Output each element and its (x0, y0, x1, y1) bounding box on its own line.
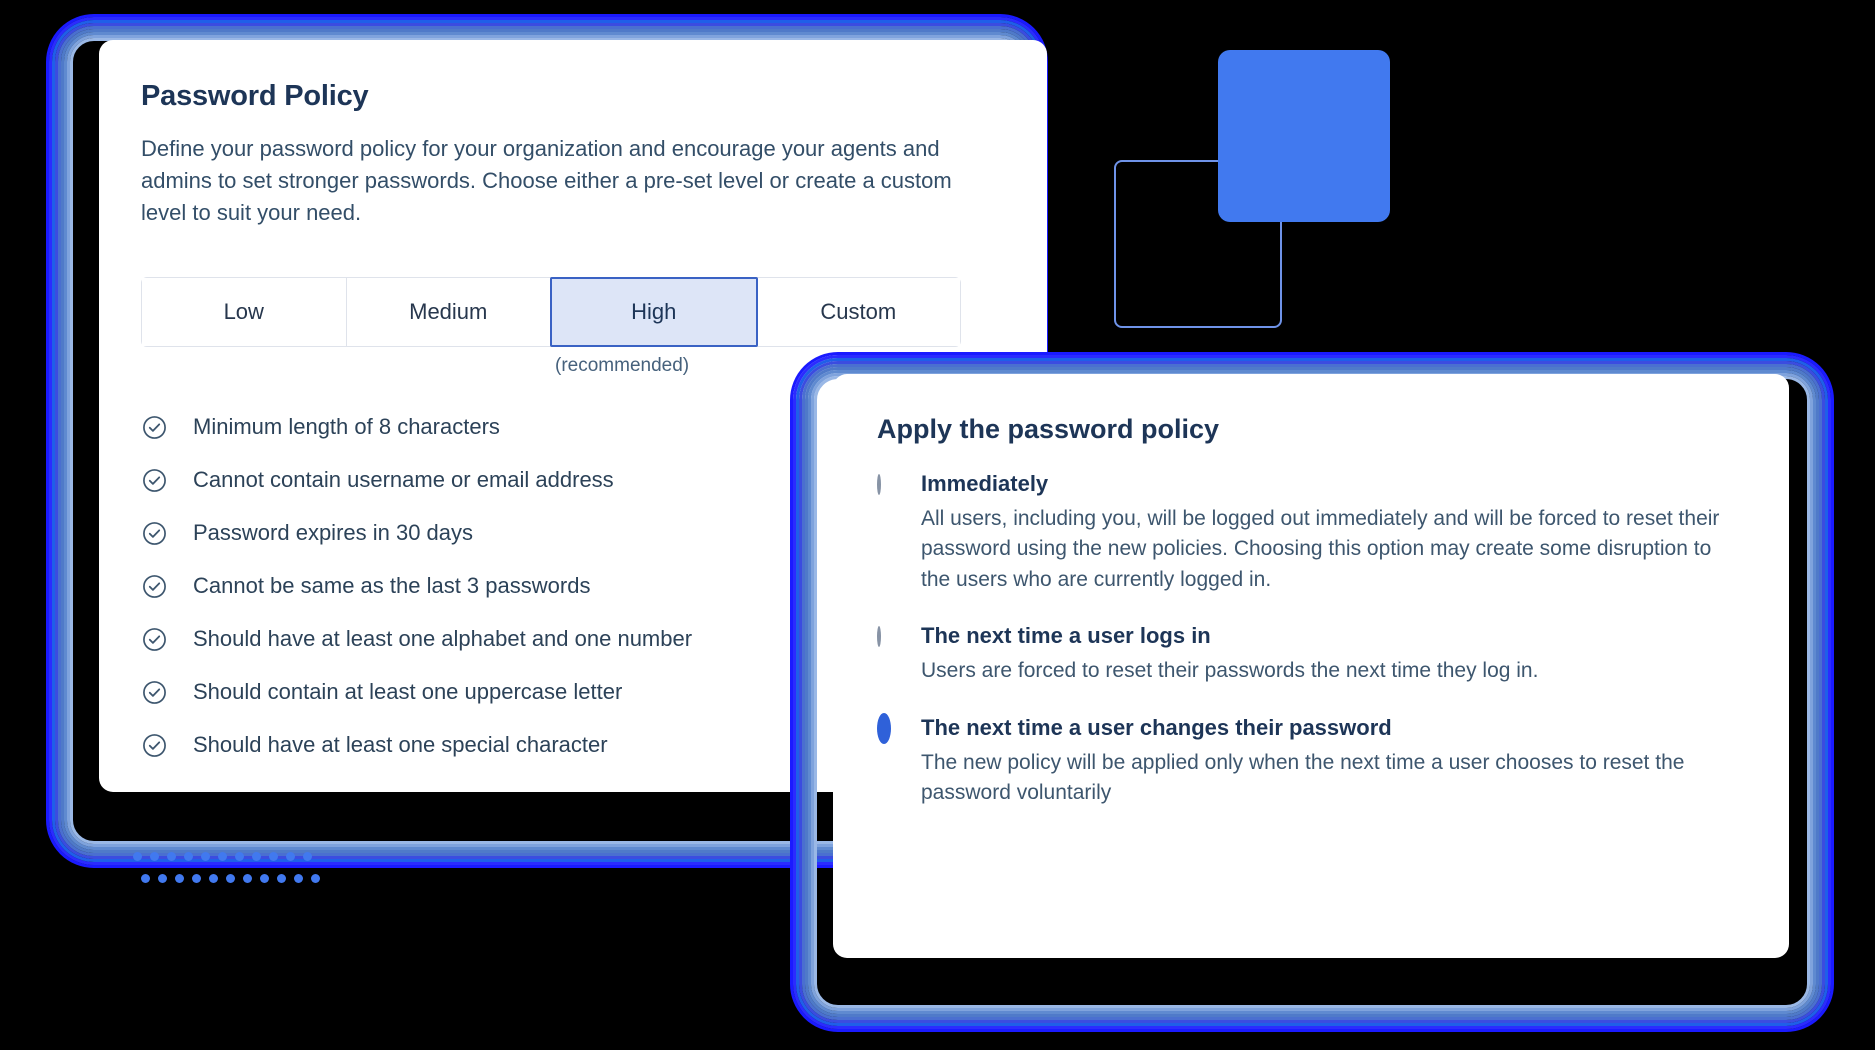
apply-policy-option-body: The next time a user logs inUsers are fo… (921, 623, 1745, 686)
apply-policy-option-2[interactable]: The next time a user logs inUsers are fo… (877, 623, 1745, 686)
apply-policy-option-body: The next time a user changes their passw… (921, 715, 1745, 809)
screenshot-stage: Password Policy Define your password pol… (0, 0, 1875, 1050)
policy-level-segmented-control[interactable]: LowMediumHighCustom (141, 277, 961, 347)
policy-level-option-low[interactable]: Low (142, 278, 347, 346)
policy-level-label: Medium (409, 299, 487, 325)
radio-circle (877, 626, 881, 647)
password-rule-label: Cannot be same as the last 3 passwords (193, 573, 590, 599)
password-rule-label: Should contain at least one uppercase le… (193, 679, 622, 705)
apply-policy-title: Apply the password policy (877, 414, 1745, 445)
policy-level-option-custom[interactable]: Custom (757, 278, 961, 346)
apply-policy-radio-group[interactable]: ImmediatelyAll users, including you, wil… (877, 471, 1745, 809)
policy-description: Define your password policy for your org… (141, 133, 971, 229)
decorative-dot (294, 874, 303, 883)
password-rule-label: Should have at least one special charact… (193, 732, 608, 758)
check-circle-icon (141, 626, 168, 653)
policy-level-label: High (631, 299, 676, 325)
decorative-dot (235, 852, 244, 861)
apply-policy-card: Apply the password policy ImmediatelyAll… (833, 374, 1789, 958)
policy-level-option-high[interactable]: High (550, 277, 758, 347)
check-circle-icon (141, 467, 168, 494)
check-circle-icon (141, 573, 168, 600)
check-circle-icon (141, 679, 168, 706)
decorative-dot (167, 852, 176, 861)
decorative-filled-square (1218, 50, 1390, 222)
password-rule-label: Should have at least one alphabet and on… (193, 626, 692, 652)
radio-unselected-icon[interactable] (877, 628, 901, 652)
decorative-dot (311, 874, 320, 883)
page-title: Password Policy (141, 80, 1047, 113)
password-rule-label: Minimum length of 8 characters (193, 414, 500, 440)
apply-policy-option-body: ImmediatelyAll users, including you, wil… (921, 471, 1745, 595)
policy-level-label: Low (224, 299, 264, 325)
decorative-dot-grid (133, 852, 323, 896)
decorative-dot (303, 852, 312, 861)
decorative-dot (201, 852, 210, 861)
decorative-dot (141, 874, 150, 883)
radio-selected-icon[interactable] (877, 720, 901, 744)
apply-policy-option-1[interactable]: ImmediatelyAll users, including you, wil… (877, 471, 1745, 595)
apply-policy-option-description: All users, including you, will be logged… (921, 504, 1745, 595)
decorative-dot (175, 874, 184, 883)
radio-circle (877, 474, 881, 495)
check-circle-icon (141, 732, 168, 759)
radio-unselected-icon[interactable] (877, 476, 901, 500)
decorative-dot (218, 852, 227, 861)
decorative-dot (226, 874, 235, 883)
check-circle-icon (141, 414, 168, 441)
decorative-dot (260, 874, 269, 883)
decorative-dot (252, 852, 261, 861)
apply-policy-option-label: The next time a user logs in (921, 623, 1745, 649)
decorative-dot (158, 874, 167, 883)
decorative-dot (133, 852, 142, 861)
apply-policy-option-label: The next time a user changes their passw… (921, 715, 1745, 741)
decorative-dot (209, 874, 218, 883)
decorative-dot (184, 852, 193, 861)
password-rule-label: Password expires in 30 days (193, 520, 473, 546)
recommended-note: (recommended) (555, 355, 689, 377)
decorative-dot (269, 852, 278, 861)
apply-policy-option-description: The new policy will be applied only when… (921, 748, 1745, 809)
decorative-dot (150, 852, 159, 861)
password-rule-label: Cannot contain username or email address (193, 467, 614, 493)
decorative-dot (277, 874, 286, 883)
decorative-dot (286, 852, 295, 861)
policy-level-option-medium[interactable]: Medium (347, 278, 552, 346)
decorative-dot (192, 874, 201, 883)
policy-level-label: Custom (820, 299, 896, 325)
apply-policy-option-label: Immediately (921, 471, 1745, 497)
check-circle-icon (141, 520, 168, 547)
radio-circle (877, 713, 891, 744)
apply-policy-option-3[interactable]: The next time a user changes their passw… (877, 715, 1745, 809)
apply-policy-option-description: Users are forced to reset their password… (921, 656, 1745, 686)
decorative-dot (243, 874, 252, 883)
